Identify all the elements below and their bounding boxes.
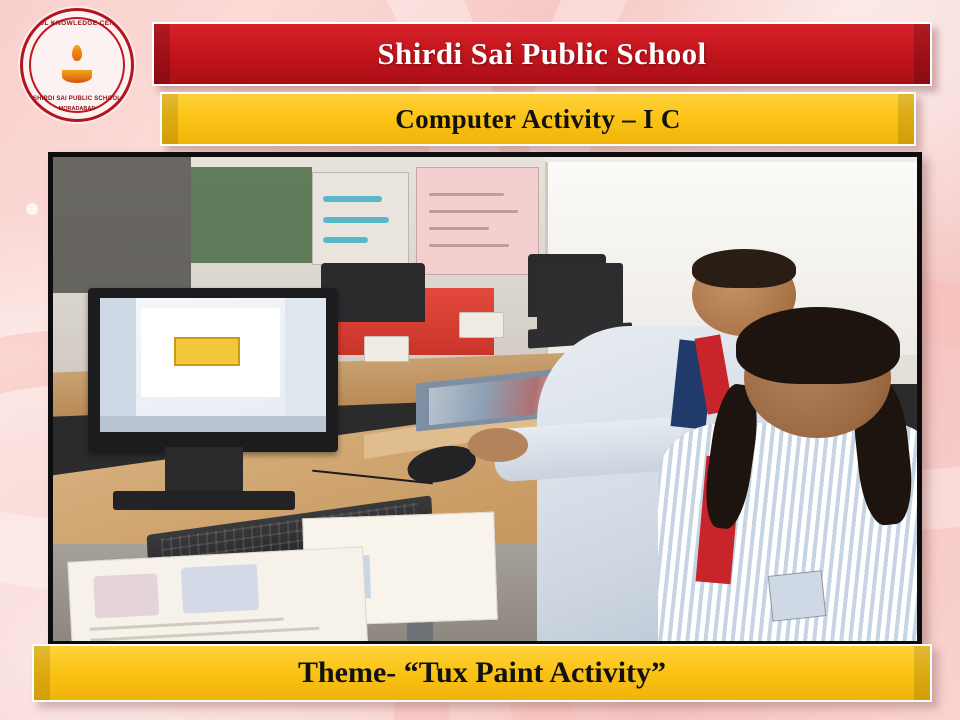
photo-student-boy-hand [468,428,528,462]
title-banner: Shirdi Sai Public School [152,22,932,86]
photo-student-girl-hair [736,307,900,384]
page-title: Shirdi Sai Public School [377,36,706,72]
photo-monitor-stand [165,447,243,495]
flame-icon [72,45,82,61]
photo-poster-left [312,172,409,266]
photo-poster-right [416,167,539,275]
theme-banner: Theme- “Tux Paint Activity” [32,644,932,702]
theme-banner-notch-right [914,646,930,700]
theme-label: Theme- “Tux Paint Activity” [298,656,666,690]
photo-power-socket-1 [364,336,409,362]
logo-top-text: ASTUL KNOWLEDGE CENTRE [23,20,131,27]
tux-paint-bottom-bar [100,416,326,432]
photo-wall-dark [53,157,191,293]
logo-lamp-icon [55,43,99,87]
logo-city: MORADABAD [23,106,131,112]
school-logo: ASTUL KNOWLEDGE CENTRE SHIRDI SAI PUBLIC… [20,8,134,122]
photo-monitor-base [113,491,294,510]
photo-student-boy-hair [692,249,796,288]
classroom-photo [53,157,917,641]
tux-paint-canvas [141,308,281,397]
logo-school-name: SHIRDI SAI PUBLIC SCHOOL [23,96,131,102]
theme-banner-notch-left [34,646,50,700]
background-dot [26,203,38,215]
activity-subtitle: Computer Activity – I C [395,104,680,135]
title-banner-notch-left [154,24,170,84]
photo-student-girl-id-card [768,571,826,622]
lamp-icon [62,70,92,83]
title-banner-notch-right [914,24,930,84]
slide-canvas: ASTUL KNOWLEDGE CENTRE SHIRDI SAI PUBLIC… [0,0,960,720]
photo-monitor-screen [100,298,326,433]
photo-monitor [88,288,339,453]
photo-power-socket-2 [459,312,504,338]
photo-green-board [191,167,312,264]
tux-paint-drawing [174,337,240,366]
photo-worksheet-primary [68,546,369,641]
subtitle-banner-notch-left [162,94,178,144]
subtitle-banner-notch-right [898,94,914,144]
tux-paint-right-toolbar [285,298,326,433]
photo-frame [48,152,922,646]
subtitle-banner: Computer Activity – I C [160,92,916,146]
tux-paint-left-toolbar [100,298,136,433]
